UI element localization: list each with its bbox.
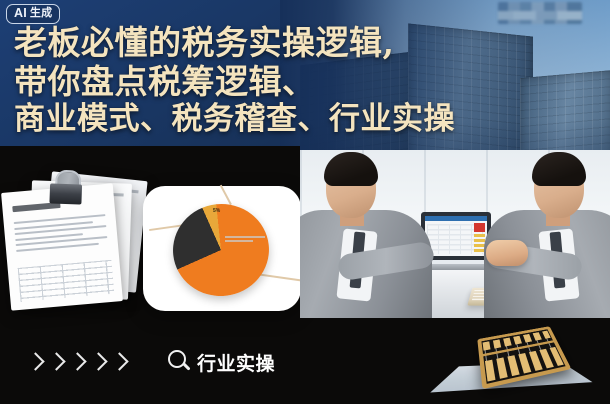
tax-documents-image xyxy=(0,168,144,308)
chevron-icon xyxy=(49,352,62,374)
document-table xyxy=(18,260,115,302)
footer-label-text: 行业实操 xyxy=(197,349,275,376)
pie-slice-label xyxy=(225,236,265,244)
laptop-screen xyxy=(425,216,487,256)
headline-line-2: 带你盘点税筹逻辑、 xyxy=(14,63,596,102)
footer-search-label[interactable]: 行业实操 xyxy=(168,349,275,376)
ai-generated-badge: AI 生成 xyxy=(6,4,60,24)
poster-root: AI 生成 老板必懂的税务实操逻辑, 带你盘点税筹逻辑、 商业模式、税务稽查、行… xyxy=(0,0,610,404)
hair xyxy=(532,152,586,186)
businessman-right xyxy=(484,150,610,318)
pie-chart: 5% xyxy=(167,196,277,300)
spreadsheet-toolbar xyxy=(425,216,487,221)
chevron-icon xyxy=(28,352,41,374)
binder-clip-icon xyxy=(45,169,86,204)
businessman-left xyxy=(300,150,432,318)
chevron-icon xyxy=(91,352,104,374)
magnifier-handle xyxy=(182,362,190,370)
ai-badge-prefix: AI xyxy=(14,7,27,20)
chevron-arrows xyxy=(28,352,125,374)
pie-percent-annotation: 5% xyxy=(213,208,220,214)
pie-slices xyxy=(168,199,273,301)
headline-line-3: 商业模式、税务稽查、行业实操 xyxy=(14,101,596,137)
pie-chart-card: 5% xyxy=(143,186,301,311)
handshake-photo xyxy=(300,150,610,318)
clip-body xyxy=(49,183,82,204)
chevron-icon xyxy=(70,352,83,374)
chevron-icon xyxy=(112,352,125,374)
hair xyxy=(324,152,378,186)
handshake-hands xyxy=(486,240,528,266)
document-text-lines xyxy=(14,214,109,255)
blurred-watermark xyxy=(498,2,582,24)
page-title: 老板必懂的税务实操逻辑, 带你盘点税筹逻辑、 商业模式、税务稽查、行业实操 xyxy=(14,24,596,137)
ai-badge-label: 生成 xyxy=(30,8,52,19)
abacus-image xyxy=(468,320,580,398)
pie-leader-line xyxy=(220,185,232,205)
headline-line-1: 老板必懂的税务实操逻辑, xyxy=(14,24,596,63)
magnifier-icon[interactable] xyxy=(168,350,194,376)
